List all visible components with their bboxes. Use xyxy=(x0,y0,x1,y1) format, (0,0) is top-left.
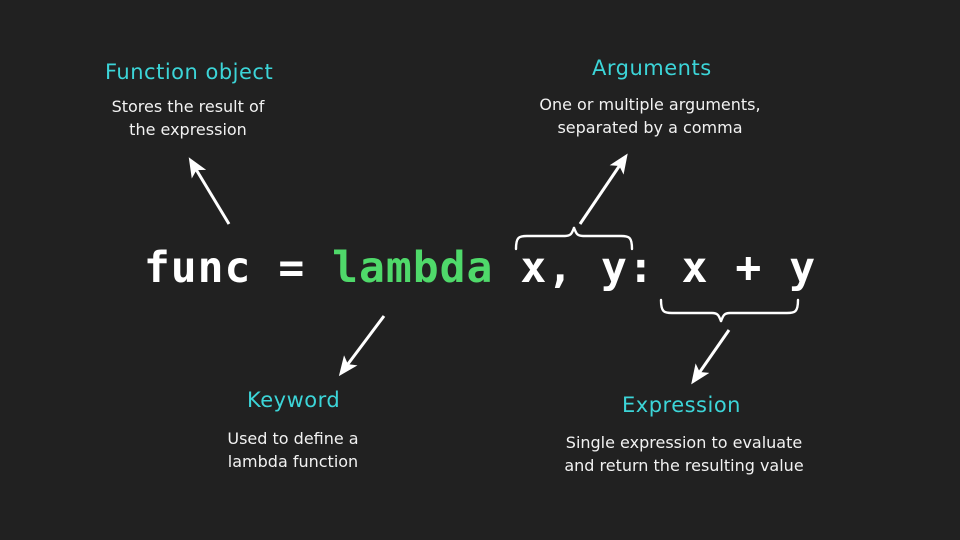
label-title-keyword: Keyword xyxy=(247,388,340,412)
expression-brace xyxy=(661,300,798,321)
label-body-keyword: Used to define a lambda function xyxy=(203,428,383,473)
code-suffix: x, y: x + y xyxy=(493,243,816,293)
label-body-expression-line1: Single expression to evaluate xyxy=(566,433,802,452)
label-body-expression-line2: and return the resulting value xyxy=(564,456,803,475)
code-keyword: lambda xyxy=(332,243,493,293)
label-title-function-object: Function object xyxy=(105,60,273,84)
code-line: func = lambda x, y: x + y xyxy=(0,243,960,293)
label-body-arguments: One or multiple arguments, separated by … xyxy=(521,94,779,139)
diagram-canvas: Function object Stores the result of the… xyxy=(0,0,960,540)
label-body-arguments-line2: separated by a comma xyxy=(557,118,742,137)
arrow-expression xyxy=(697,330,729,376)
arrow-keyword xyxy=(345,316,384,368)
label-body-keyword-line1: Used to define a xyxy=(227,429,358,448)
label-body-arguments-line1: One or multiple arguments, xyxy=(539,95,760,114)
label-title-expression: Expression xyxy=(622,393,741,417)
label-body-expression: Single expression to evaluate and return… xyxy=(541,432,827,477)
label-body-function-object-line2: the expression xyxy=(129,120,247,139)
label-body-function-object-line1: Stores the result of xyxy=(112,97,265,116)
arrow-function-object xyxy=(194,166,229,224)
arrow-arguments xyxy=(580,162,622,224)
label-body-keyword-line2: lambda function xyxy=(228,452,358,471)
code-prefix: func = xyxy=(144,243,332,293)
label-title-arguments: Arguments xyxy=(592,56,712,80)
label-body-function-object: Stores the result of the expression xyxy=(93,96,283,141)
